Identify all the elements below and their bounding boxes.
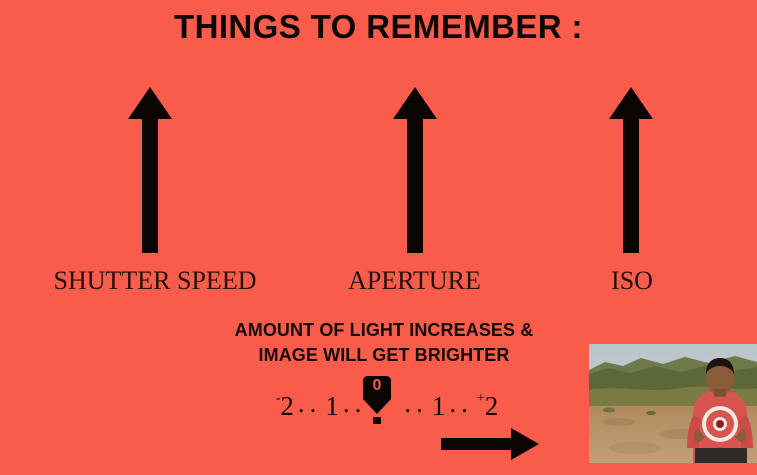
meter-value-minus-two: 2	[280, 391, 294, 422]
meter-dots-a: ..	[294, 388, 326, 419]
up-arrow-icon-aperture	[392, 87, 438, 253]
up-arrow-icon-iso	[608, 87, 654, 253]
meter-value-plus-one: 1	[432, 391, 446, 422]
exposure-pointer-icon: 0	[363, 376, 391, 424]
right-arrow-icon	[441, 428, 539, 460]
meter-value-minus-one: 1	[325, 391, 339, 422]
up-arrow-icon-shutter-speed	[127, 87, 173, 253]
page-title: THINGS TO REMEMBER :	[0, 8, 757, 46]
caption-line-2: IMAGE WILL GET BRIGHTER	[148, 343, 620, 368]
meter-dots-c: ..	[400, 388, 432, 419]
caption-block: AMOUNT OF LIGHT INCREASES & IMAGE WILL G…	[148, 318, 620, 368]
meter-dots-d: ..	[445, 388, 477, 419]
meter-value-plus-two: 2	[485, 391, 499, 422]
presenter-video-thumbnail[interactable]	[589, 344, 757, 463]
caption-line-1: AMOUNT OF LIGHT INCREASES &	[148, 318, 620, 343]
column-label-iso: ISO	[500, 266, 757, 296]
slide-canvas: THINGS TO REMEMBER : SHUTTER SPEED APERT…	[0, 0, 757, 475]
